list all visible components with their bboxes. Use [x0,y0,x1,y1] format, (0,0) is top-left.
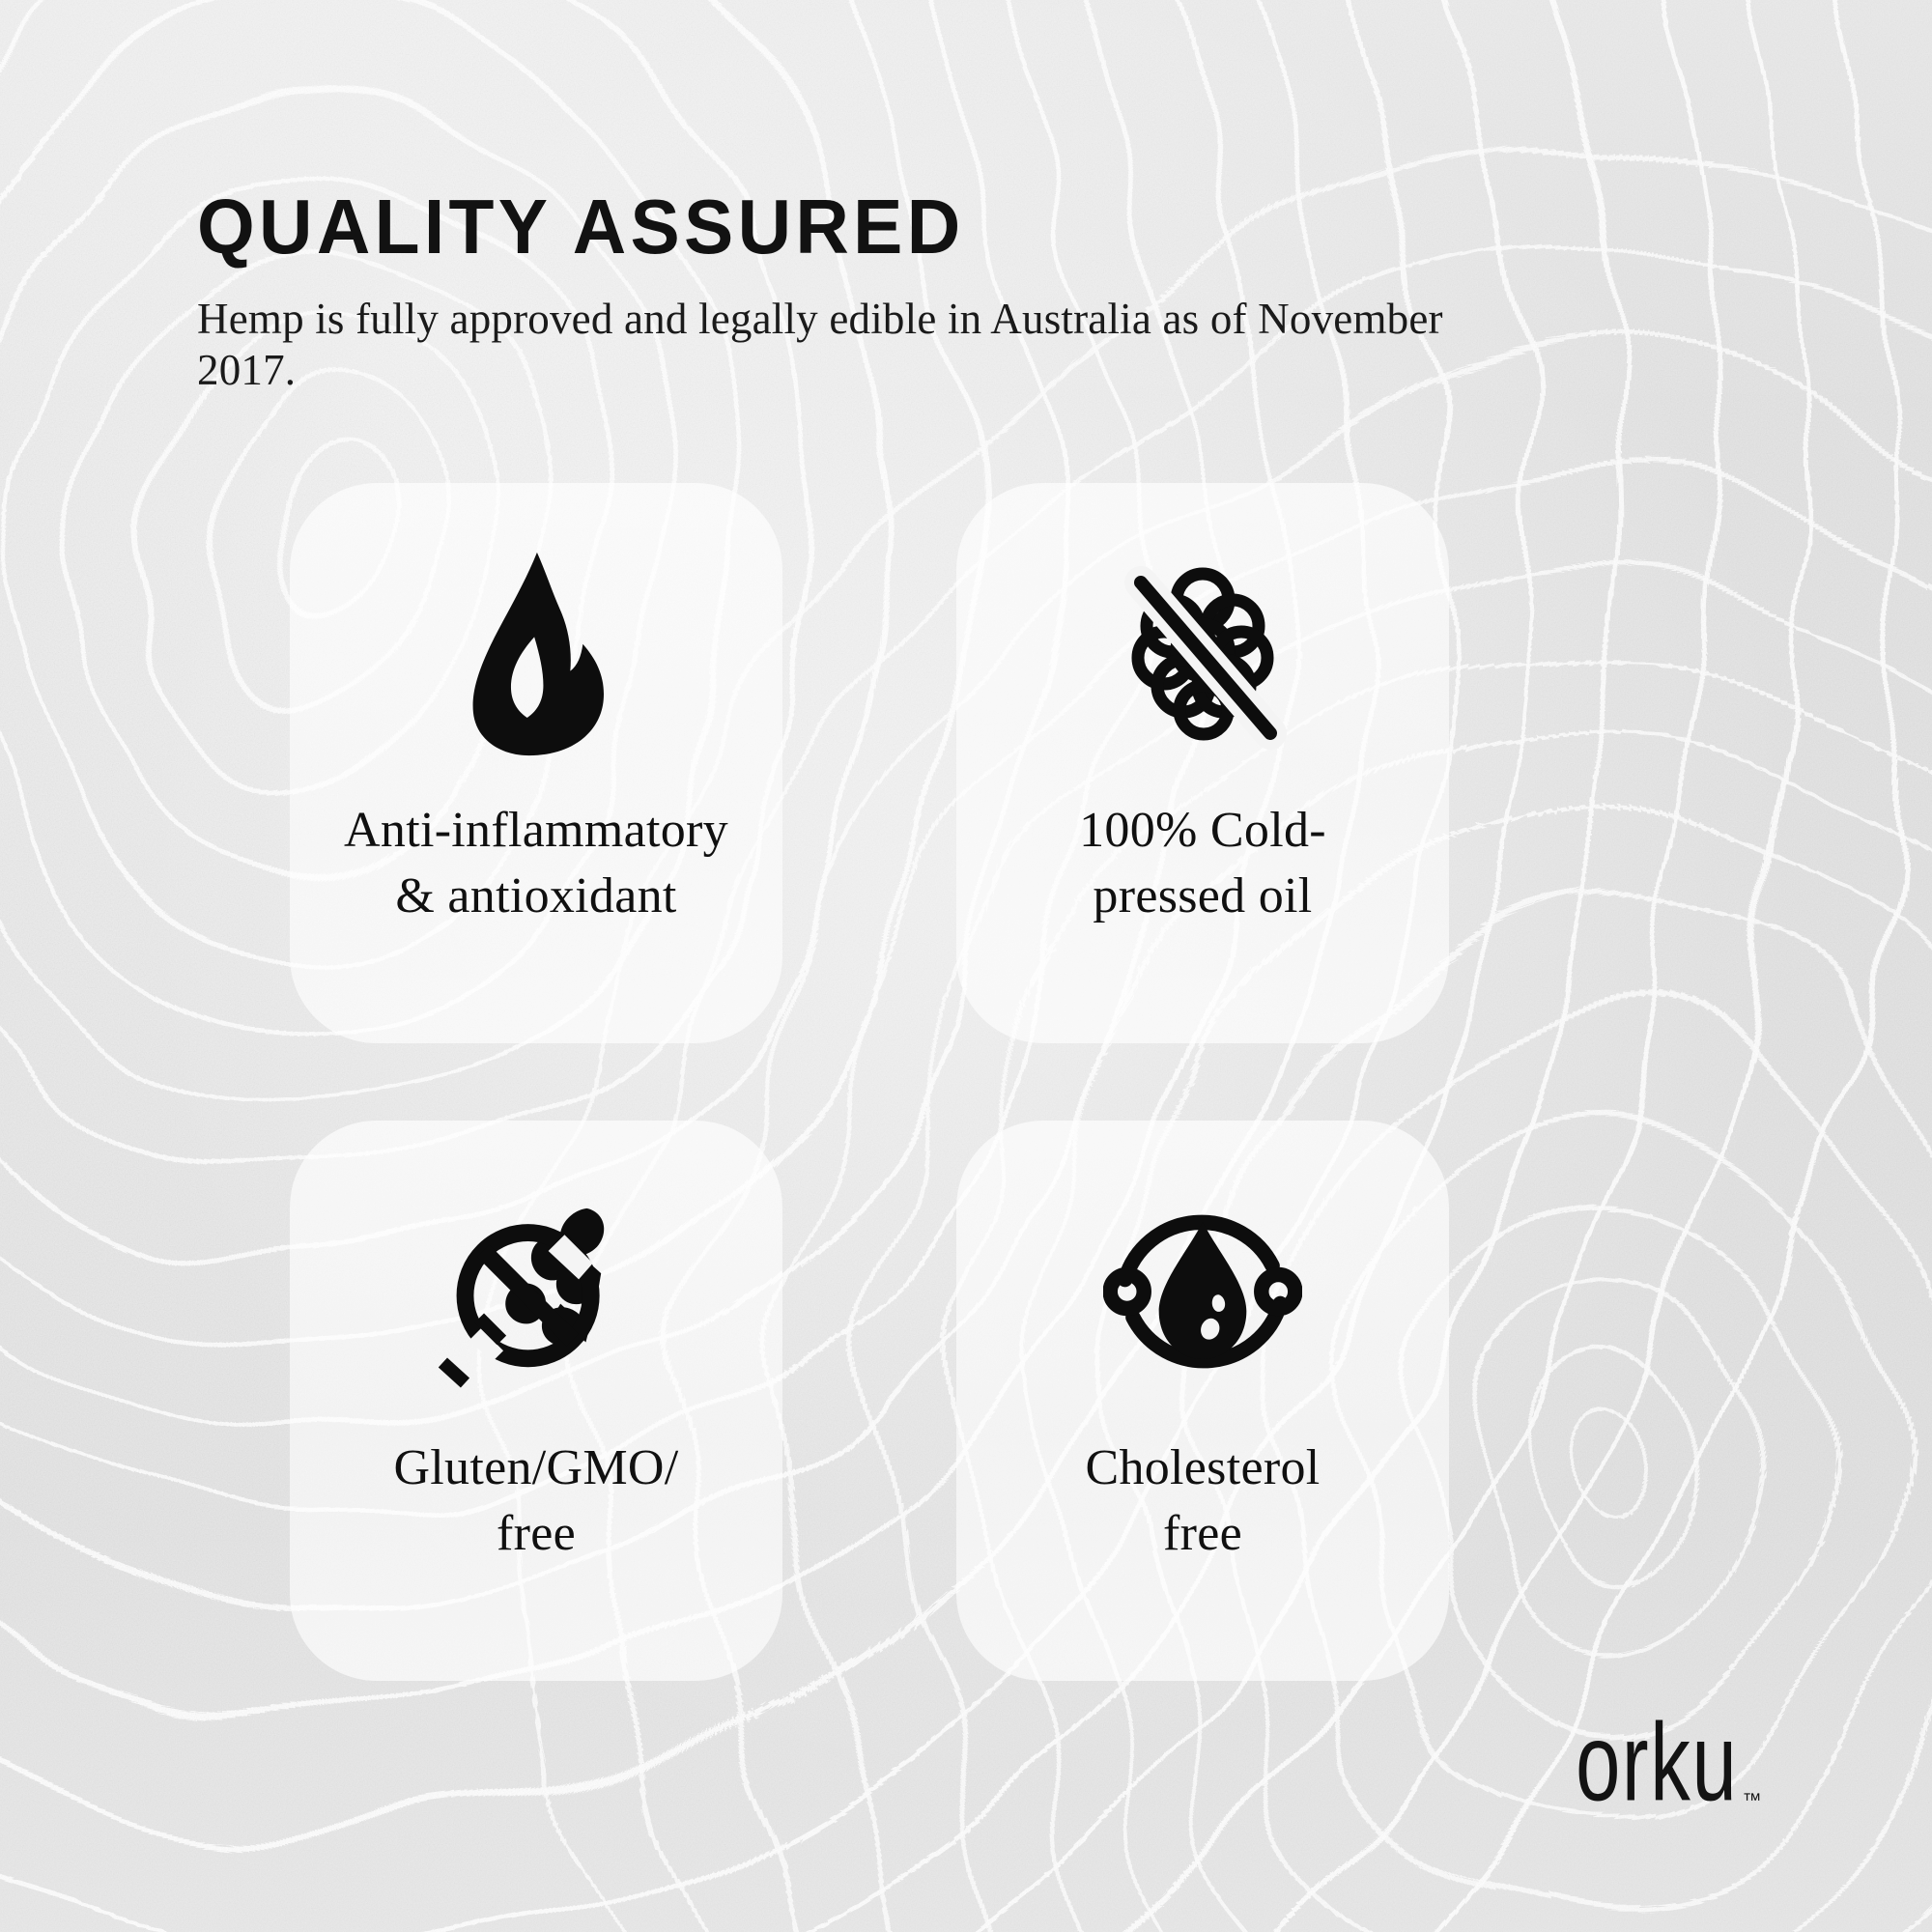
feature-label-line-2: free [1163,1506,1242,1561]
feature-label-line-2: free [497,1506,576,1561]
cholesterol-droplet-icon [1092,1180,1314,1403]
feature-card-anti-inflammatory: Anti-inflammatory & antioxidant [290,483,782,1043]
feature-card-cholesterol-free: Cholesterol free [956,1121,1449,1681]
feature-card-label: 100% Cold- pressed oil [1067,798,1338,928]
feature-card-cold-pressed: 100% Cold- pressed oil [956,483,1449,1043]
feature-card-gluten-gmo-free: Gluten/GMO/ free [290,1121,782,1681]
trademark-symbol: ™ [1743,1790,1763,1812]
feature-card-label: Gluten/GMO/ free [382,1435,690,1566]
brand-logo: orku ™ [1535,1718,1762,1818]
feature-card-label: Cholesterol free [1073,1435,1331,1566]
feature-label-line-1: 100% Cold- [1079,803,1326,858]
feature-label-line-1: Cholesterol [1085,1440,1320,1495]
feature-label-line-1: Anti-inflammatory [344,803,728,858]
flame-icon [425,543,647,765]
header-block: QUALITY ASSURED Hemp is fully approved a… [197,189,1549,396]
feature-label-line-1: Gluten/GMO/ [393,1440,678,1495]
feature-card-label: Anti-inflammatory & antioxidant [332,798,740,928]
poster-content: QUALITY ASSURED Hemp is fully approved a… [0,0,1932,1932]
page-title: QUALITY ASSURED [197,189,1495,265]
poster-canvas: QUALITY ASSURED Hemp is fully approved a… [0,0,1932,1932]
no-gluten-wheat-icon [425,1180,647,1403]
feature-label-line-2: pressed oil [1093,868,1312,923]
page-subtitle: Hemp is fully approved and legally edibl… [197,294,1443,395]
feature-label-line-2: & antioxidant [395,868,676,923]
no-heat-cluster-icon [1092,543,1314,765]
brand-wordmark: orku [1576,1708,1738,1818]
feature-card-grid: Anti-inflammatory & antioxidant [290,483,1662,1681]
